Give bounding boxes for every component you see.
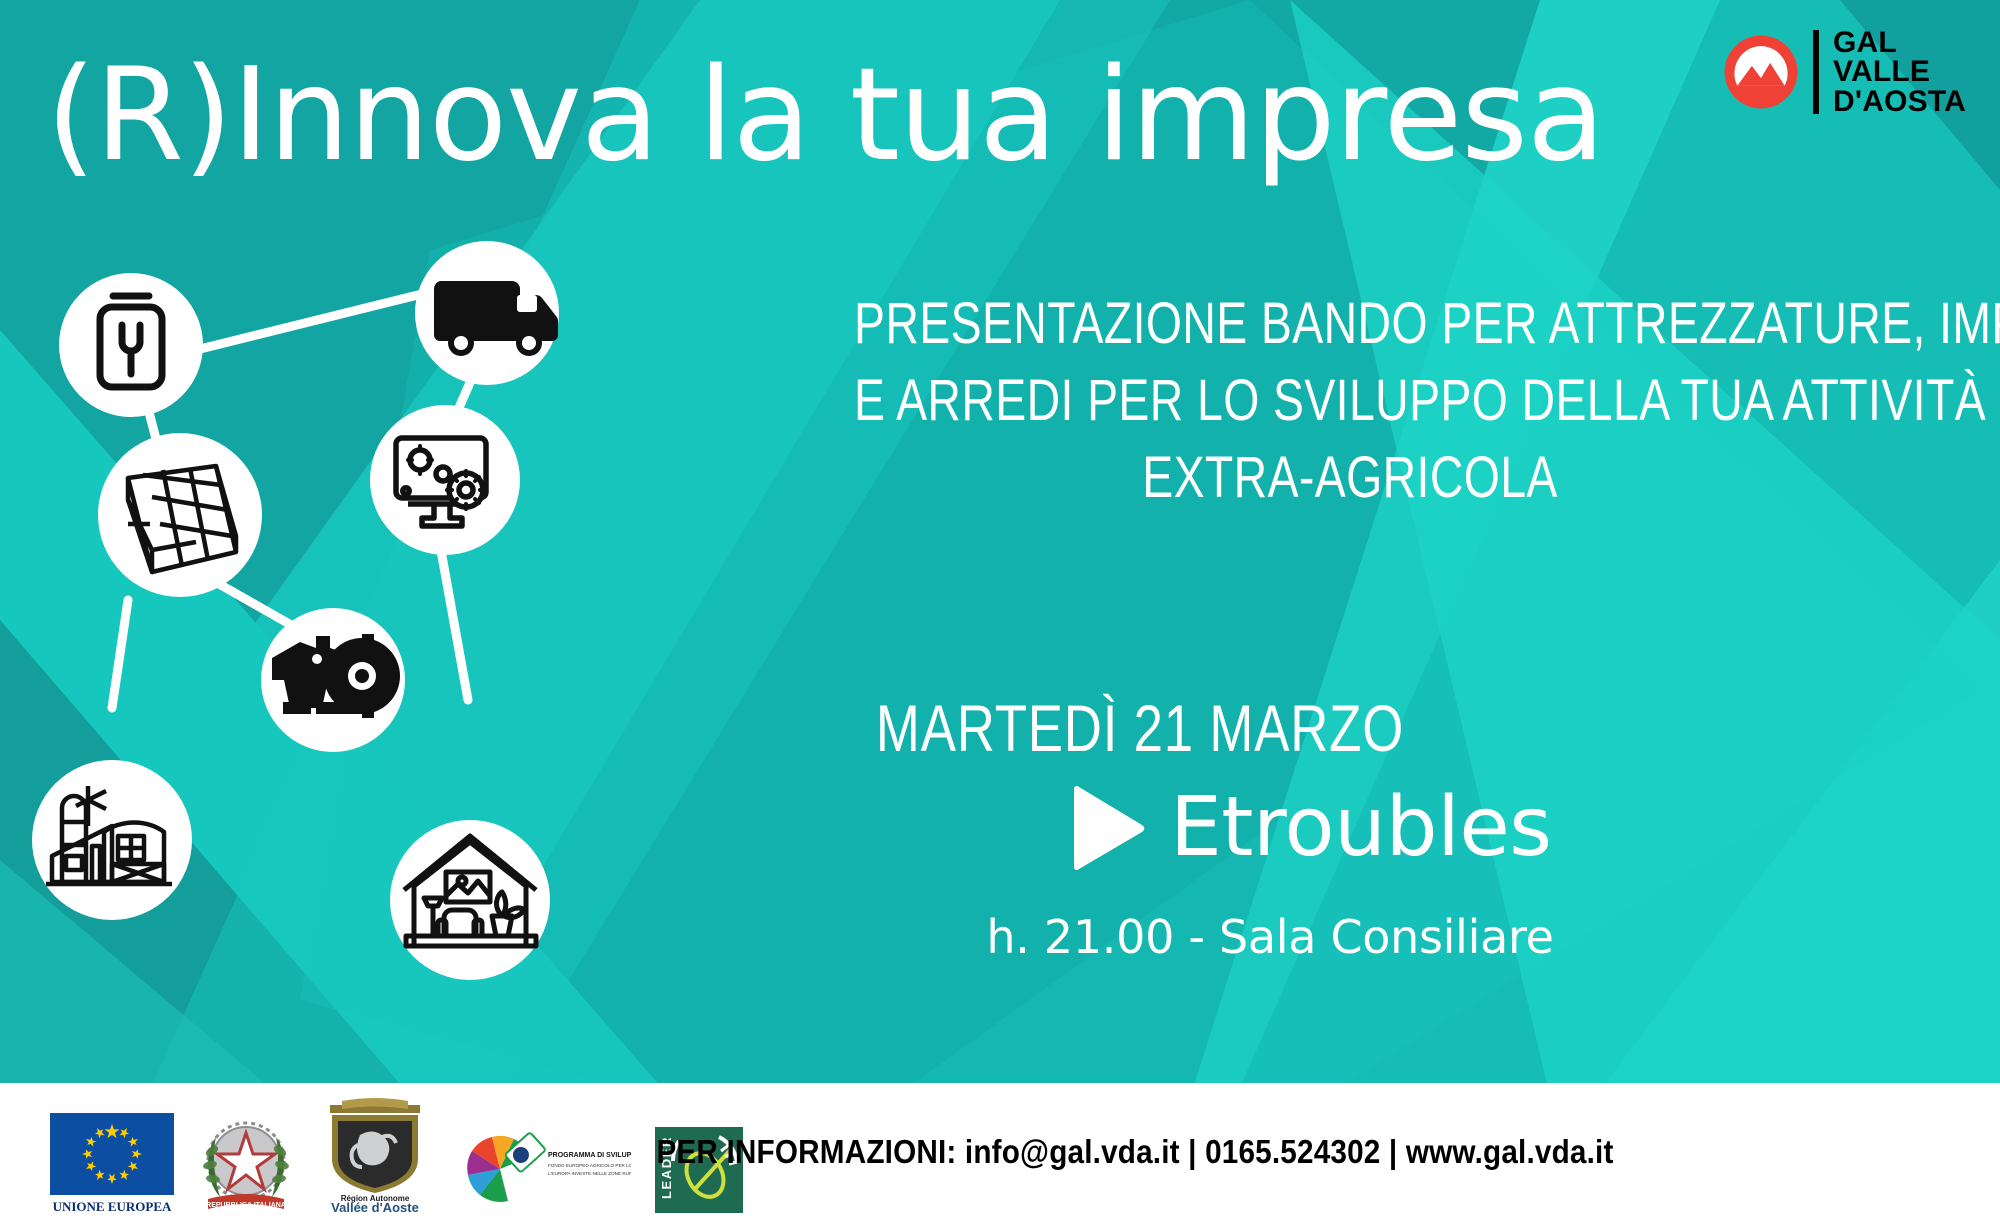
- gal-mountain-icon: [1723, 34, 1799, 110]
- repubblica-caption: REPUBBLICA ITALIANA: [206, 1202, 286, 1209]
- play-arrow-icon: [1070, 785, 1146, 871]
- poster-subtitle: PRESENTAZIONE BANDO PER ATTREZZATURE, IM…: [854, 285, 1846, 516]
- subtitle-line-1: PRESENTAZIONE BANDO PER ATTREZZATURE, IM…: [854, 285, 1846, 362]
- footer-bar: UNIONE EUROPEA: [0, 1083, 2000, 1223]
- event-place-name: Etroubles: [1170, 787, 1552, 869]
- valle-aosta-caption-fr: Vallée d'Aoste: [331, 1200, 419, 1215]
- barn-silo-icon: [32, 760, 192, 920]
- delivery-truck-icon: [415, 241, 559, 385]
- computer-gears-icon: [370, 405, 520, 555]
- machinery-gear-icon: [261, 608, 405, 752]
- poster-canvas: GAL VALLE D'AOSTA (R)Innova la tua impre…: [0, 0, 2000, 1223]
- gal-logo-line-1: GAL: [1833, 28, 1966, 57]
- battery-plug-icon: [59, 273, 203, 417]
- event-venue: h. 21.00 - Sala Consiliare: [900, 910, 1640, 964]
- gal-logo-line-3: D'AOSTA: [1833, 87, 1966, 116]
- feasr-subcaption-3: L'EUROPA INVESTE NELLE ZONE RURALI: [548, 1171, 631, 1176]
- logo-divider: [1813, 30, 1819, 114]
- solar-panel-icon: [98, 433, 262, 597]
- event-place-row: Etroubles: [1070, 785, 1552, 871]
- eu-flag-caption: UNIONE EUROPEA: [53, 1199, 172, 1214]
- gal-logo-text: GAL VALLE D'AOSTA: [1833, 28, 1966, 116]
- subtitle-line-3: EXTRA-AGRICOLA: [854, 439, 1846, 516]
- gal-logo-line-2: VALLE: [1833, 57, 1966, 86]
- gal-logo[interactable]: GAL VALLE D'AOSTA: [1723, 28, 1966, 116]
- event-date: MARTEDÌ 21 MARZO: [836, 690, 1444, 766]
- subtitle-line-2: E ARREDI PER LO SVILUPPO DELLA TUA ATTIV…: [854, 362, 1846, 439]
- poster-title: (R)Innova la tua impresa: [46, 52, 1604, 180]
- footer-contact-info: PER INFORMAZIONI: info@gal.vda.it | 0165…: [100, 1133, 1900, 1171]
- furnished-house-icon: [390, 820, 550, 980]
